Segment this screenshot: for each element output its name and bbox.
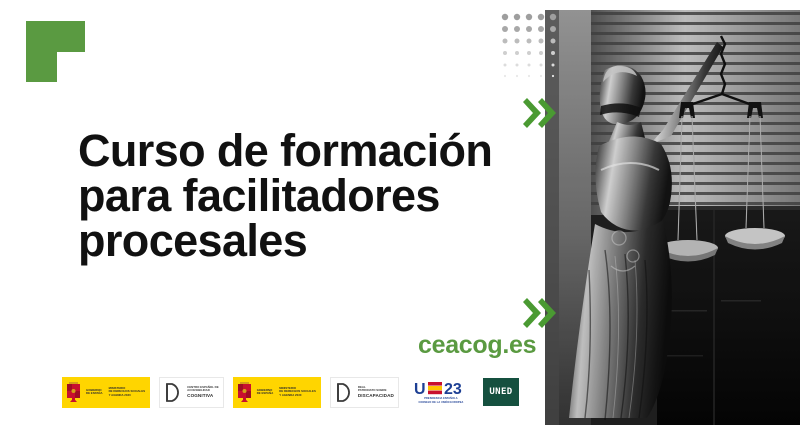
ministerio-col-2: MINISTERIO DE DERECHOS SOCIALES Y AGENDA… — [279, 387, 316, 397]
ue-line-2: CONSEJO DE LA UNIÓN EUROPEA — [419, 401, 464, 404]
ue-presidency-subtitle: PRESIDENCIA ESPAÑOLA CONSEJO DE LA UNIÓN… — [419, 397, 464, 403]
gov2-line-5: Y AGENDA 2030 — [279, 394, 316, 397]
gobierno-col-2: GOBIERNO DE ESPAÑA — [257, 389, 274, 396]
d-mark-icon — [164, 382, 184, 403]
logo-gobierno-de-espana-2: GOBIERNO DE ESPAÑA MINISTERIO DE DERECHO… — [233, 377, 321, 408]
mark-arm — [57, 21, 85, 52]
sponsor-logo-strip: GOBIERNO DE ESPAÑA MINISTERIO DE DERECHO… — [62, 376, 519, 408]
mark-stem — [26, 21, 57, 82]
slide-title: Curso de formación para facilitadores pr… — [78, 128, 508, 263]
logo-gobierno-de-espana-1: GOBIERNO DE ESPAÑA MINISTERIO DE DERECHO… — [62, 377, 150, 408]
svg-text:23: 23 — [444, 381, 462, 396]
spain-coat-of-arms-icon — [65, 381, 82, 403]
logo-centro-espanol-accesibilidad-cognitiva: CENTRO ESPAÑOL DE ACCESIBILIDAD COGNITIV… — [159, 377, 224, 408]
chevron-double-right-top-icon — [521, 98, 557, 128]
org1-line-3: COGNITIVA — [187, 393, 219, 399]
svg-text:U: U — [414, 381, 426, 396]
justice-statue-photo — [545, 10, 800, 425]
spain-coat-of-arms-icon-2 — [236, 381, 253, 403]
logo-uned: UNED — [483, 378, 519, 406]
gobierno-text-group-2: GOBIERNO DE ESPAÑA MINISTERIO DE DERECHO… — [257, 387, 316, 397]
ministerio-col: MINISTERIO DE DERECHOS SOCIALES Y AGENDA… — [109, 387, 146, 397]
gov2-line-2: DE ESPAÑA — [257, 392, 274, 395]
ue23-mark-icon: U 23 — [414, 380, 468, 396]
justice-photo-graphic — [545, 10, 800, 425]
real-patronato-logo-text: REAL PATRONATO SOBRE DISCAPACIDAD — [358, 386, 394, 398]
org2-line-3: DISCAPACIDAD — [358, 393, 394, 399]
chevron-bottom-graphic — [521, 298, 557, 328]
logo-real-patronato-sobre-discapacidad: REAL PATRONATO SOBRE DISCAPACIDAD — [330, 377, 399, 408]
uned-label: UNED — [489, 387, 512, 397]
title-line-2: para facilitadores — [78, 173, 508, 218]
dot-grid-decoration — [500, 12, 562, 82]
logo-presidencia-espanola-ue-2023: U 23 PRESIDENCIA ESPAÑOLA CONSEJO DE LA … — [408, 377, 474, 408]
ceacog-logo-text: CENTRO ESPAÑOL DE ACCESIBILIDAD COGNITIV… — [187, 386, 219, 398]
title-line-3: procesales — [78, 218, 508, 263]
gov-line-2: DE ESPAÑA — [86, 392, 103, 395]
presentation-slide: Curso de formación para facilitadores pr… — [0, 0, 800, 437]
title-line-1: Curso de formación — [78, 128, 508, 173]
chevron-double-right-bottom-icon — [521, 298, 557, 328]
gov-line-5: Y AGENDA 2030 — [109, 394, 146, 397]
ceacog-wordmark[interactable]: ceacog.es — [418, 331, 536, 360]
chevron-top-graphic — [521, 98, 557, 128]
gobierno-col: GOBIERNO DE ESPAÑA — [86, 389, 103, 396]
dot-grid-graphic — [500, 12, 562, 82]
gobierno-text-group: GOBIERNO DE ESPAÑA MINISTERIO DE DERECHO… — [86, 387, 145, 397]
ceacog-flag-mark-icon — [26, 21, 85, 82]
d-mark-icon-2 — [335, 382, 355, 403]
